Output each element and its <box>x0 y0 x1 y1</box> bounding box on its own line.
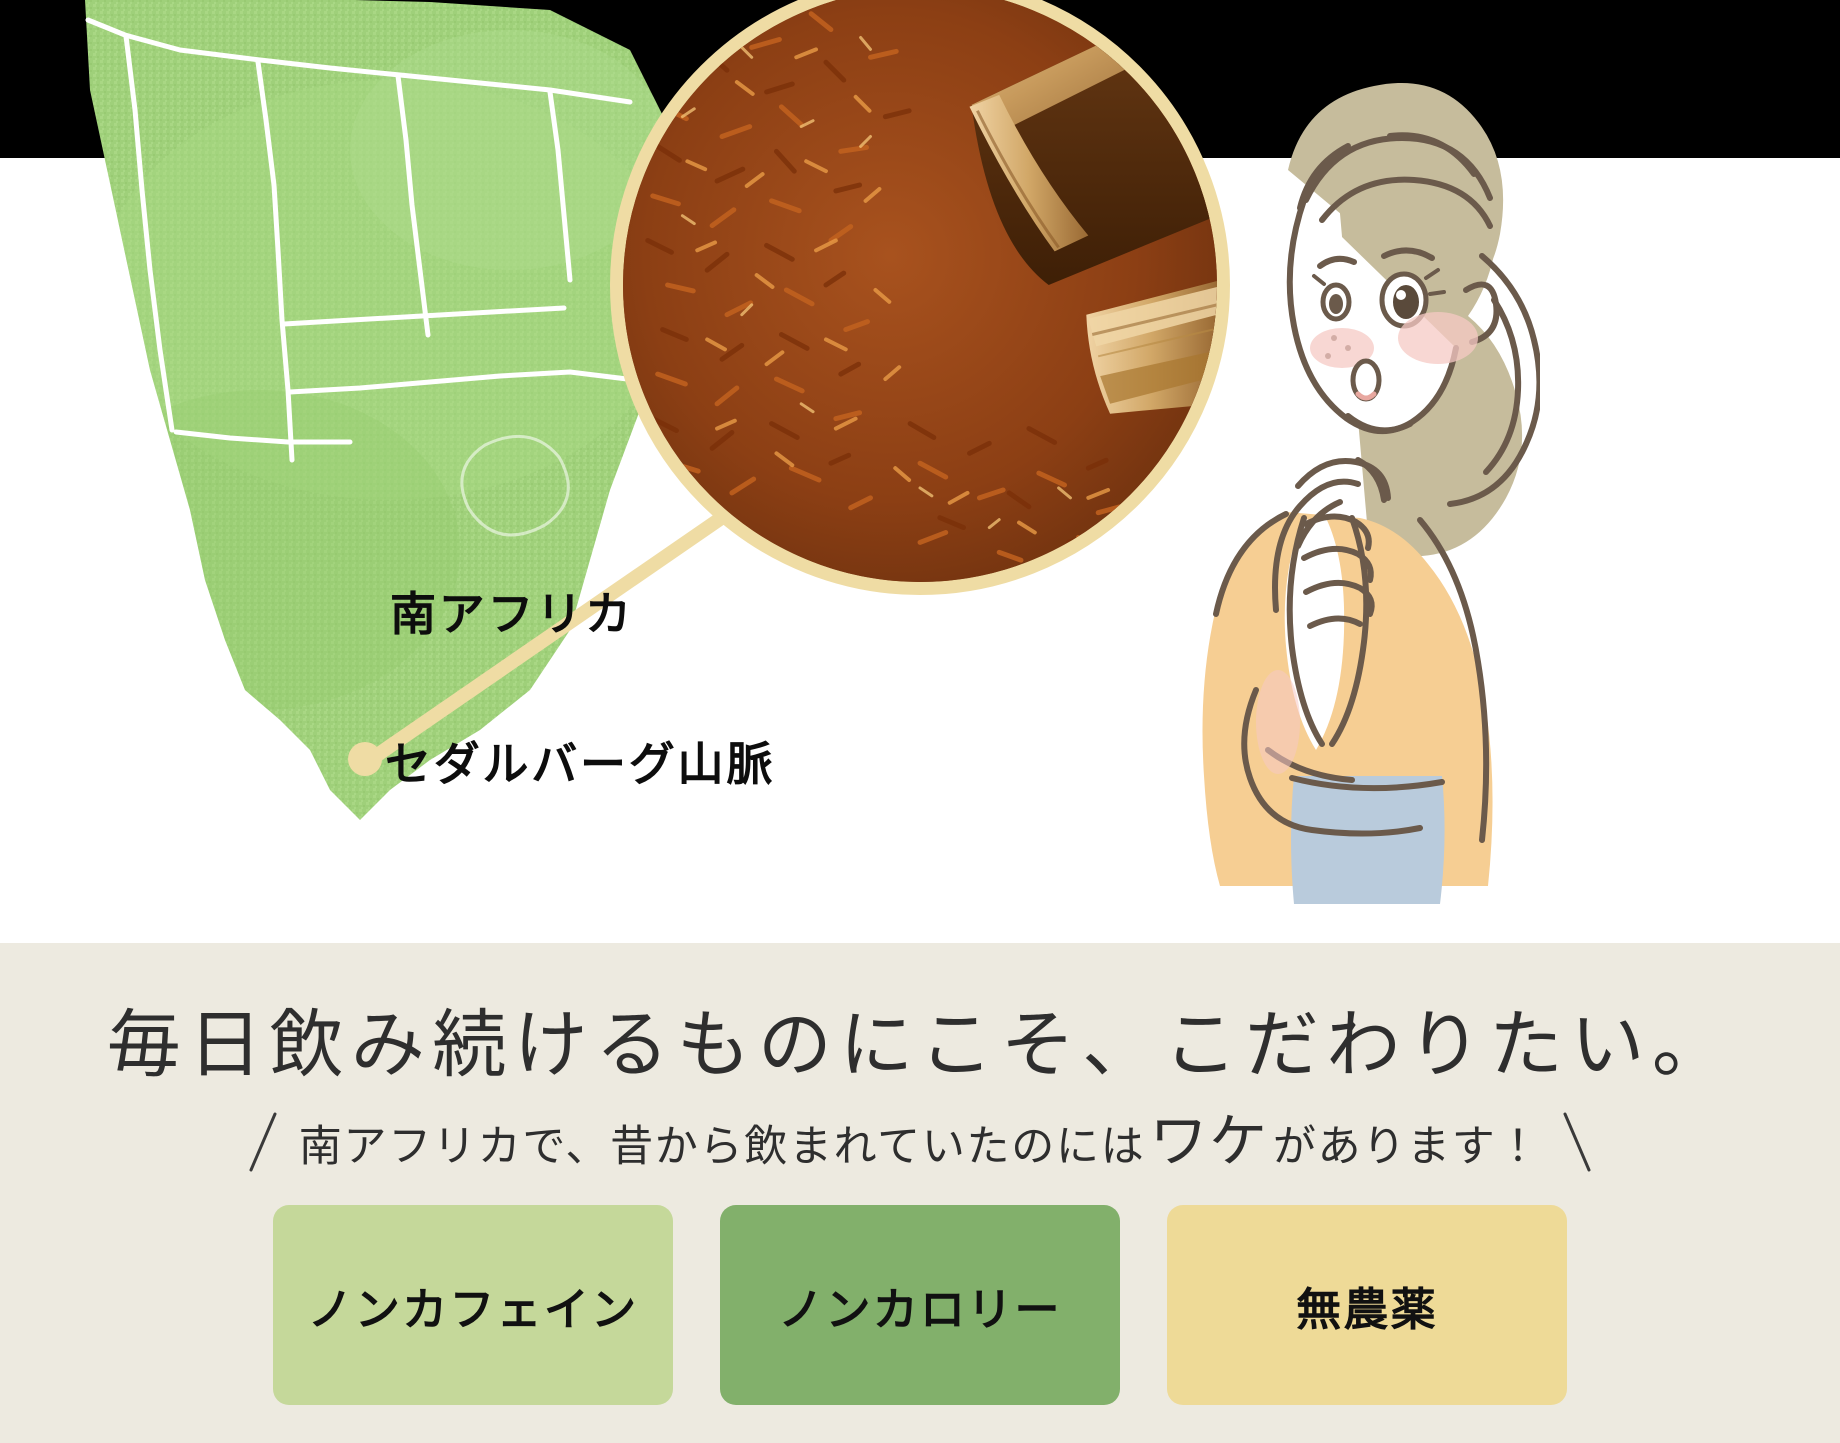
badge-non-calorie[interactable]: ノンカロリー <box>720 1205 1120 1405</box>
badge-label: ノンカフェイン <box>308 1273 639 1338</box>
slash-right-icon <box>1559 1112 1593 1174</box>
subheading-text: 南アフリカで、昔から飲まれていたのにはワケがあります！ <box>299 1112 1541 1174</box>
subheading-tail: があります！ <box>1273 1112 1541 1174</box>
map-region-marker-dot <box>348 742 382 776</box>
landing-page-hero: 南アフリカ セダルバーグ山脈 <box>0 0 1840 1443</box>
badge-label: 無農薬 <box>1296 1273 1438 1338</box>
map-label-region: セダルバーグ山脈 <box>385 728 775 794</box>
subheading-lead: 南アフリカで、昔から飲まれていたのには <box>299 1112 1146 1174</box>
map-label-country: 南アフリカ <box>390 578 634 644</box>
badge-label: ノンカロリー <box>778 1273 1062 1338</box>
badge-pesticide-free[interactable]: 無農薬 <box>1167 1205 1567 1405</box>
subheading-row: 南アフリカで、昔から飲まれていたのにはワケがあります！ <box>0 1112 1840 1174</box>
page-headline: 毎日飲み続けるものにこそ、こだわりたい。 <box>0 985 1840 1092</box>
feature-badge-row: ノンカフェイン ノンカロリー 無農薬 <box>0 1205 1840 1405</box>
woman-illustration <box>1090 50 1540 950</box>
slash-left-icon <box>247 1112 281 1174</box>
badge-non-caffeine[interactable]: ノンカフェイン <box>273 1205 673 1405</box>
subheading-emphasis: ワケ <box>1145 1112 1272 1170</box>
